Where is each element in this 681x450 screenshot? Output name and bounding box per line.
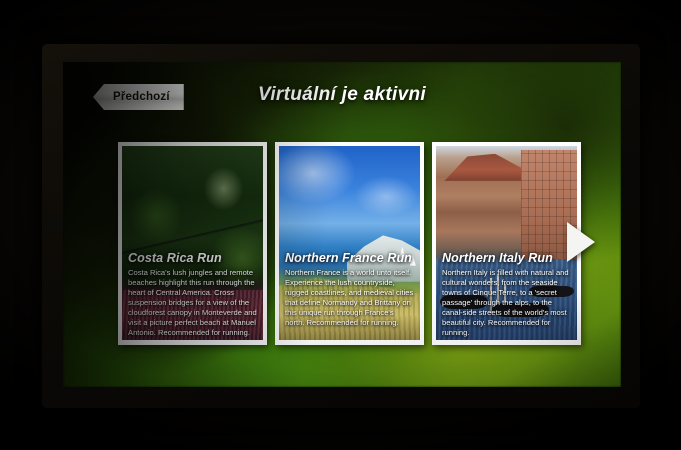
route-card-text-overlay: Northern Italy Run Northern Italy is fil…	[436, 251, 577, 340]
route-card-description: Northern Italy is filled with natural an…	[442, 268, 571, 339]
route-card-image: Costa Rica Run Costa Rica's lush jungles…	[122, 146, 263, 340]
route-card-title: Costa Rica Run	[128, 251, 257, 265]
route-card-text-overlay: Northern France Run Northern France is a…	[279, 251, 420, 340]
device-photo-frame: Předchozí Virtuální je aktivni Costa Ric…	[0, 0, 681, 450]
route-card-costa-rica[interactable]: Costa Rica Run Costa Rica's lush jungles…	[118, 142, 267, 345]
route-card-northern-france[interactable]: Northern France Run Northern France is a…	[275, 142, 424, 345]
card-rail: Costa Rica Run Costa Rica's lush jungles…	[118, 142, 581, 345]
route-card-northern-italy[interactable]: Northern Italy Run Northern Italy is fil…	[432, 142, 581, 345]
image-detail-roof	[444, 154, 526, 181]
route-card-text-overlay: Costa Rica Run Costa Rica's lush jungles…	[122, 251, 263, 340]
route-card-description: Northern France is a world unto itself. …	[285, 268, 414, 329]
route-card-title: Northern France Run	[285, 251, 414, 265]
route-card-title: Northern Italy Run	[442, 251, 571, 265]
route-card-image: Northern Italy Run Northern Italy is fil…	[436, 146, 577, 340]
route-card-image: Northern France Run Northern France is a…	[279, 146, 420, 340]
next-arrow-icon[interactable]	[567, 222, 595, 262]
route-card-description: Costa Rica's lush jungles and remote bea…	[128, 268, 257, 339]
page-title: Virtuální je aktivni	[63, 84, 621, 106]
display-screen: Předchozí Virtuální je aktivni Costa Ric…	[63, 62, 621, 387]
